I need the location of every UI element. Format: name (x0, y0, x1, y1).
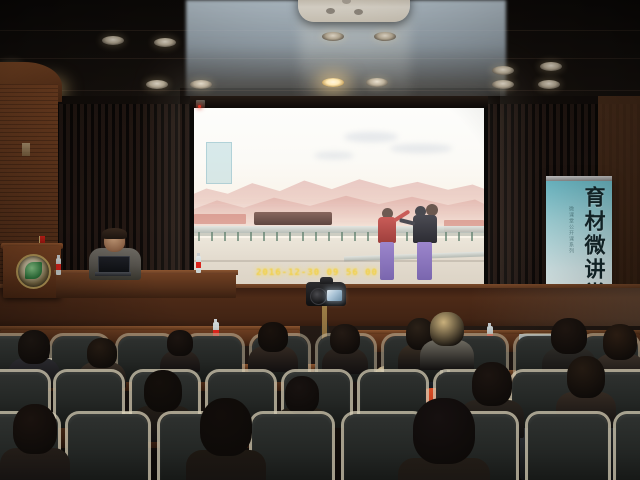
audience-member-head (430, 312, 464, 346)
projector-mount-fixture (298, 0, 410, 22)
status-led-icon (198, 105, 201, 108)
audience-member (0, 404, 70, 480)
lecture-hall-photo: 2016-12-30 09 56 00 育材微讲堂 微课堂公开课系列 (0, 0, 640, 480)
video-worker-left (376, 208, 402, 282)
video-guardrail-post (458, 232, 460, 241)
video-guardrail-post (471, 232, 473, 241)
downlight (374, 32, 396, 41)
water-bottle (56, 258, 61, 275)
video-guardrail-post (237, 232, 239, 241)
audience-member-head (13, 404, 57, 454)
video-guardrail-post (250, 232, 252, 241)
downlight (146, 80, 168, 89)
downlight (322, 78, 344, 87)
video-guardrail-post (302, 232, 304, 241)
audience-member-head (567, 356, 605, 398)
audience-member-head (551, 318, 587, 354)
camera-viewfinder-icon (320, 277, 333, 284)
head-table (56, 274, 236, 298)
downlight (540, 62, 562, 71)
video-guardrail-post (341, 232, 343, 241)
video-guardrail-post (224, 232, 226, 241)
audience-member-head (603, 324, 637, 360)
audience-member-head (413, 398, 475, 464)
video-timestamp-overlay: 2016-12-30 09 56 00 (256, 268, 378, 278)
presenter-laptop (98, 256, 128, 276)
auditorium-seat[interactable] (616, 414, 640, 480)
video-guardrail-post (289, 232, 291, 241)
downlight (366, 78, 388, 87)
video-guardrail-post (445, 232, 447, 241)
auditorium-seat[interactable] (68, 414, 148, 480)
banner-subtext: 微课堂公开课系列 (562, 206, 574, 282)
downlight (190, 80, 212, 89)
presenter-hair (102, 228, 127, 239)
audience-member-head (330, 324, 360, 354)
audience-member-head (258, 322, 288, 352)
wall-fixture (22, 143, 30, 156)
audience-member (186, 398, 266, 480)
auditorium-seat[interactable] (528, 414, 608, 480)
institution-emblem-icon (16, 254, 51, 289)
video-guardrail-post (406, 232, 408, 241)
audience-member-head (87, 338, 117, 368)
dslr-camera[interactable] (306, 282, 346, 306)
audience-member-head (285, 376, 319, 414)
audience-member-head (200, 398, 252, 456)
video-guardrail-post (315, 232, 317, 241)
tree-leaf-icon (25, 262, 42, 279)
downlight (154, 38, 176, 47)
audience-member-head (144, 370, 182, 412)
downlight (102, 36, 124, 45)
audience-member-head (167, 330, 193, 356)
video-guardrail-post (263, 232, 265, 241)
video-road-sign (206, 142, 232, 184)
banner-rail (546, 176, 612, 181)
video-guardrail-post (276, 232, 278, 241)
video-guardrail-post (367, 232, 369, 241)
downlight (538, 80, 560, 89)
video-guardrail-post (328, 232, 330, 241)
screen-sensor (196, 100, 205, 108)
screen-top-bar (190, 96, 488, 108)
downlight (322, 32, 344, 41)
video-truck (254, 212, 332, 225)
audience-member-head (18, 330, 50, 364)
video-worker-right (412, 204, 442, 282)
video-guardrail-post (354, 232, 356, 241)
lectern (3, 246, 61, 298)
camera-lcd-screen (327, 290, 342, 301)
video-guardrail-post (211, 232, 213, 241)
water-bottle (196, 256, 201, 273)
audience-member (398, 398, 490, 480)
laptop-base (95, 272, 131, 276)
camera-lens-icon (310, 288, 327, 305)
downlight (492, 66, 514, 75)
video-guardrail-post (198, 232, 200, 241)
downlight (492, 80, 514, 89)
